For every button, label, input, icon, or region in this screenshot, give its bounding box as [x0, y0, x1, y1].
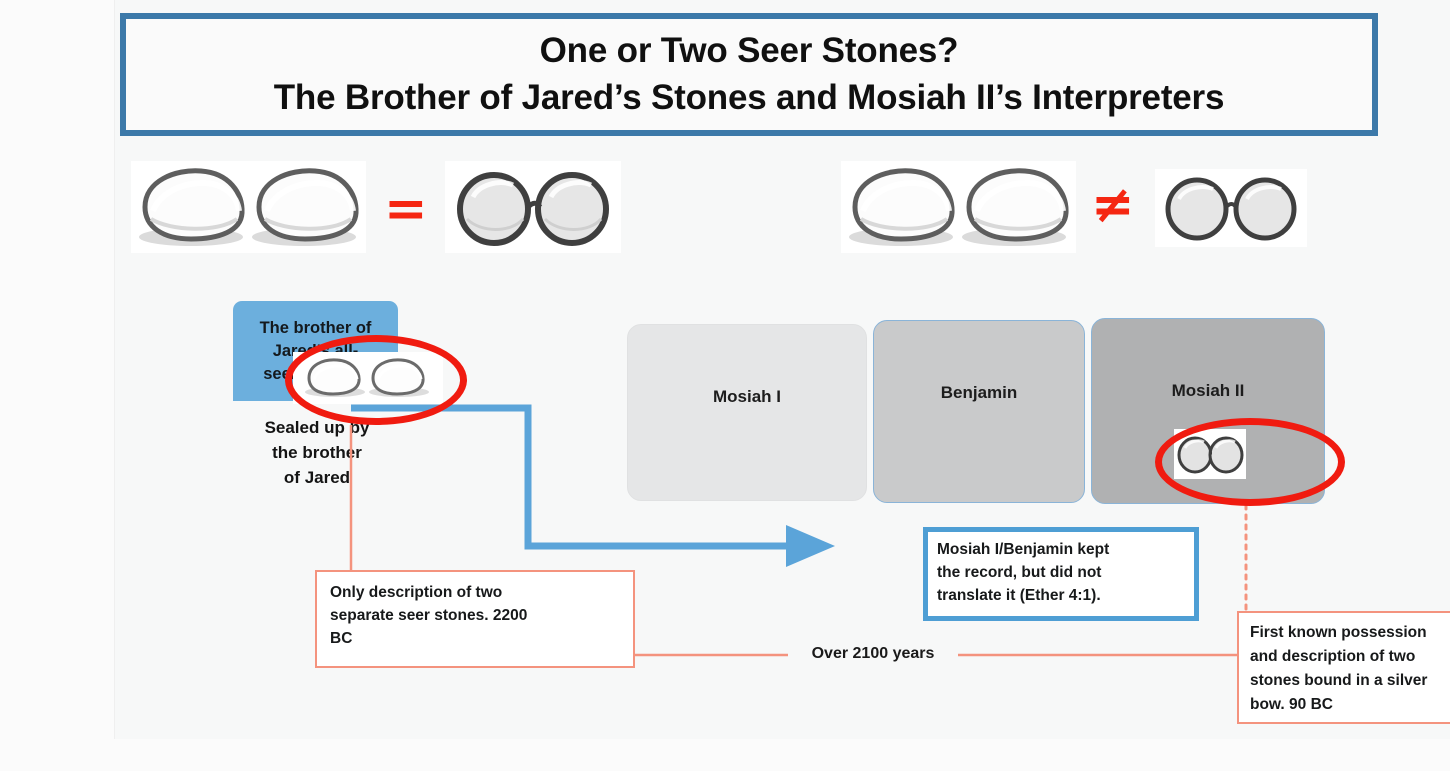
note-only-description: Only description of two separate seer st…	[315, 570, 635, 668]
note-mosiah-record: Mosiah I/Benjamin kept the record, but d…	[923, 527, 1199, 621]
note-mosiah-record-text: Mosiah I/Benjamin kept the record, but d…	[937, 538, 1185, 607]
red-highlight-oval-interpreters	[1155, 418, 1345, 506]
note-only-description-text: Only description of two separate seer st…	[330, 581, 620, 650]
slide-canvas: One or Two Seer Stones? The Brother of J…	[115, 0, 1450, 739]
note-first-known-text: First known possession and description o…	[1250, 621, 1450, 717]
red-highlight-oval-stones	[285, 335, 467, 425]
timespan-label: Over 2100 years	[788, 645, 958, 663]
note-first-known: First known possession and description o…	[1237, 611, 1450, 724]
